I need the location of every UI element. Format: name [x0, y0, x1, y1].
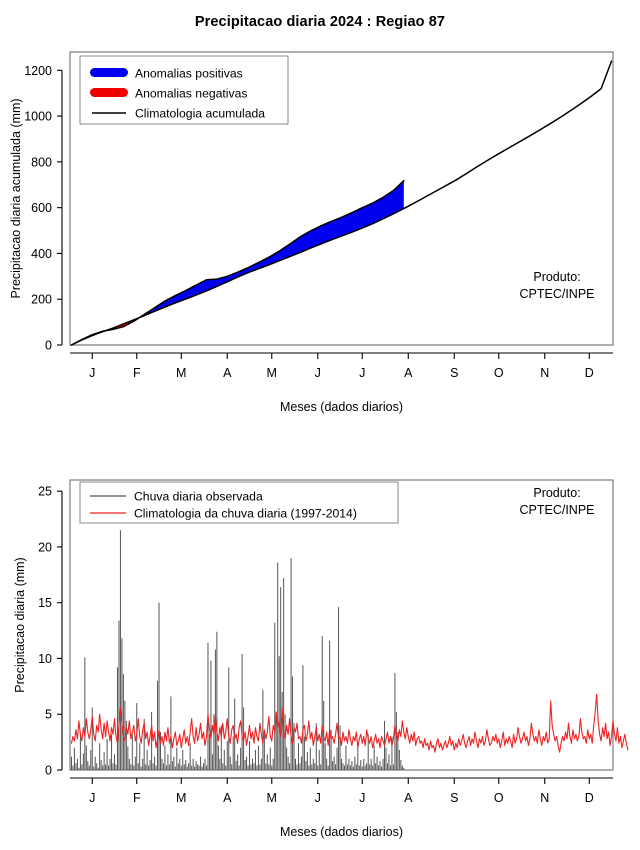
- x-tick-label: J: [359, 366, 365, 380]
- x-tick-label: N: [540, 791, 549, 805]
- x-tick-label: O: [494, 791, 504, 805]
- x-tick-label: J: [89, 791, 95, 805]
- x-axis-title: Meses (dados diarios): [280, 825, 403, 839]
- daily-precipitation-chart: 0510152025Precipitacao diaria (mm)JFMAMJ…: [0, 425, 640, 850]
- x-tick-label: A: [404, 366, 413, 380]
- x-tick-label: D: [585, 366, 594, 380]
- accumulated-precipitation-panel: Precipitacao diaria 2024 : Regiao 87 020…: [0, 0, 640, 425]
- x-tick-label: A: [404, 791, 413, 805]
- produto-annotation: Produto:: [533, 270, 580, 284]
- legend-swatch: [90, 68, 128, 77]
- legend-label: Anomalias positivas: [135, 67, 243, 81]
- y-tick-label: 20: [38, 540, 52, 554]
- x-axis-title: Meses (dados diarios): [280, 400, 403, 414]
- daily-precipitation-panel: 0510152025Precipitacao diaria (mm)JFMAMJ…: [0, 425, 640, 850]
- produto-annotation: CPTEC/INPE: [519, 503, 594, 517]
- climatology-daily-line: [71, 694, 627, 752]
- x-tick-label: J: [315, 791, 321, 805]
- x-tick-label: A: [223, 791, 232, 805]
- legend-label: Anomalias negativas: [135, 87, 247, 101]
- y-axis-title: Precipitacao diaria acumulada (mm): [9, 98, 23, 298]
- legend-label: Climatologia acumulada: [135, 107, 265, 121]
- y-tick-label: 200: [31, 293, 52, 307]
- x-tick-label: M: [176, 791, 186, 805]
- positive-anomaly-area: [140, 181, 404, 318]
- observed-accumulated-line: [71, 181, 403, 345]
- y-tick-label: 5: [45, 708, 52, 722]
- y-tick-label: 400: [31, 247, 52, 261]
- y-tick-label: 800: [31, 155, 52, 169]
- y-tick-label: 0: [45, 339, 52, 353]
- y-tick-label: 0: [45, 764, 52, 778]
- legend-label: Climatologia da chuva diaria (1997-2014): [134, 507, 357, 521]
- x-tick-label: J: [315, 366, 321, 380]
- x-tick-label: F: [133, 791, 141, 805]
- x-tick-label: M: [267, 791, 277, 805]
- produto-annotation: CPTEC/INPE: [519, 287, 594, 301]
- x-tick-label: M: [176, 366, 186, 380]
- y-tick-label: 1000: [24, 110, 52, 124]
- x-tick-label: M: [267, 366, 277, 380]
- y-axis-title: Precipitacao diaria (mm): [13, 557, 27, 692]
- x-tick-label: J: [359, 791, 365, 805]
- x-tick-label: S: [450, 366, 458, 380]
- y-tick-label: 600: [31, 201, 52, 215]
- x-tick-label: N: [540, 366, 549, 380]
- legend-swatch: [90, 88, 128, 97]
- accumulated-precipitation-chart: 020040060080010001200Precipitacao diaria…: [0, 0, 640, 425]
- produto-annotation: Produto:: [533, 486, 580, 500]
- observed-bars-group: [71, 530, 403, 770]
- x-tick-label: A: [223, 366, 232, 380]
- legend-label: Chuva diaria observada: [134, 490, 263, 504]
- x-tick-label: S: [450, 791, 458, 805]
- x-tick-label: D: [585, 791, 594, 805]
- y-tick-label: 1200: [24, 64, 52, 78]
- x-tick-label: O: [494, 366, 504, 380]
- y-tick-label: 25: [38, 485, 52, 499]
- x-tick-label: J: [89, 366, 95, 380]
- y-tick-label: 10: [38, 652, 52, 666]
- y-tick-label: 15: [38, 596, 52, 610]
- x-tick-label: F: [133, 366, 141, 380]
